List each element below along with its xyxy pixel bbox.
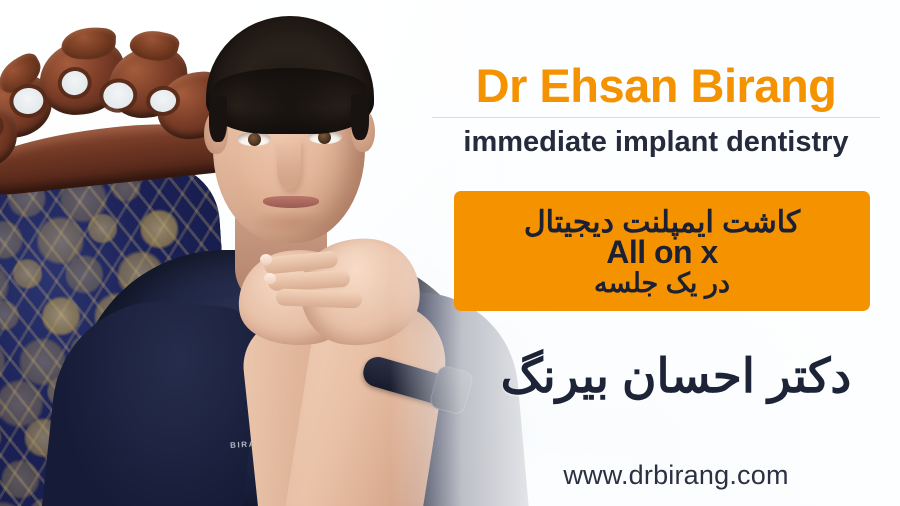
sideburn-right [351, 94, 369, 140]
iris-left [248, 133, 261, 146]
persian-name: دکتر احسان بیرنگ [470, 352, 882, 399]
damask-motif [0, 420, 3, 454]
sideburn-left [209, 96, 227, 142]
title-divider [432, 117, 880, 118]
finger [276, 289, 363, 309]
page-subtitle: immediate implant dentistry [430, 127, 882, 157]
callout-box: کاشت ایمپلنت دیجیتال All on x در یک جلسه [454, 191, 870, 311]
poster-canvas: BIRANG [0, 0, 900, 506]
damask-motif [11, 257, 43, 291]
website-url: www.drbirang.com [470, 462, 882, 489]
callout-line-3: در یک جلسه [594, 269, 730, 297]
fingernail [260, 254, 272, 265]
hair [206, 16, 374, 134]
callout-line-2: All on x [606, 236, 718, 268]
damask-motif [0, 299, 20, 333]
clasped-hands [238, 228, 438, 368]
nose [277, 140, 301, 190]
page-title: Dr Ehsan Birang [430, 62, 882, 109]
fingernail [264, 273, 276, 284]
damask-motif [0, 499, 28, 506]
damask-motif [0, 218, 25, 262]
damask-motif [0, 458, 41, 502]
eye-left [237, 132, 271, 146]
mouth [263, 196, 319, 208]
damask-motif [0, 340, 7, 384]
damask-motif [40, 294, 82, 338]
